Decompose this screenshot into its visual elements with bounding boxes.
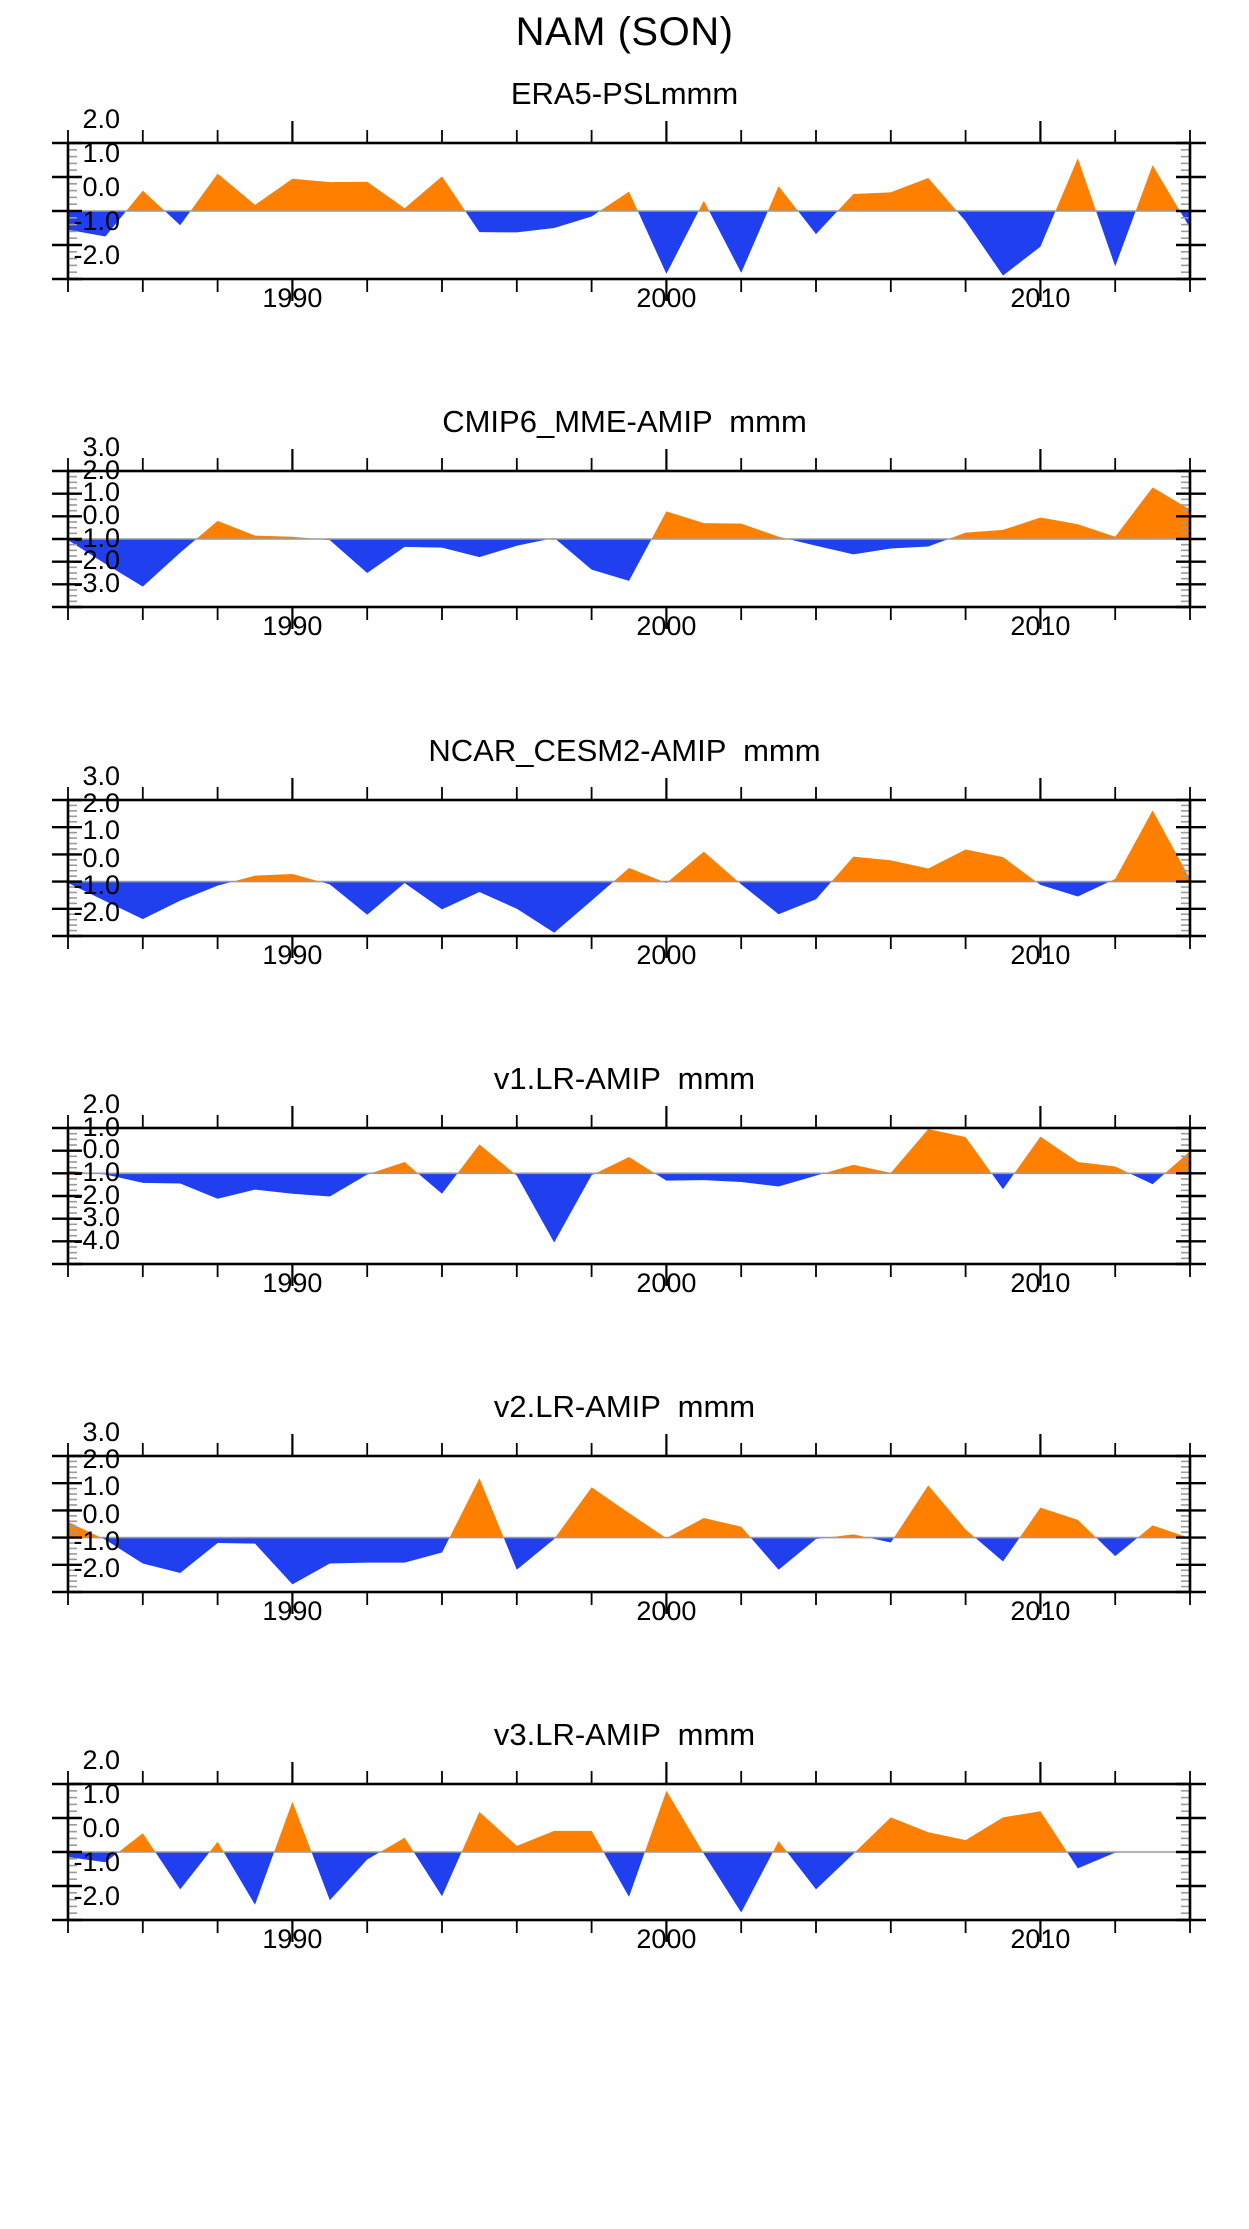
plot-area: 2.01.00.0-1.0-2.0-3.0-4.0199020002010 xyxy=(0,1104,1249,1300)
x-tick-label: 2000 xyxy=(636,285,696,312)
panel-title: v3.LR-AMIP mmm xyxy=(0,1717,1249,1753)
panel-title: ERA5-PSLmmm xyxy=(0,76,1249,112)
y-tick-label: -4.0 xyxy=(64,1227,120,1254)
y-tick-label: 2.0 xyxy=(64,106,120,133)
y-tick-label: -2.0 xyxy=(64,242,120,269)
y-tick-label: -3.0 xyxy=(64,570,120,597)
plot-area: 3.02.01.00.0-1.0-2.0199020002010 xyxy=(0,776,1249,972)
y-tick-label: -1.0 xyxy=(64,872,120,899)
y-tick-label: -2.0 xyxy=(64,899,120,926)
panel-title: v2.LR-AMIP mmm xyxy=(0,1389,1249,1425)
x-tick-label: 1990 xyxy=(262,1598,322,1625)
plot-area: 2.01.00.0-1.0-2.0199020002010 xyxy=(0,1760,1249,1956)
y-tick-label: 0.0 xyxy=(64,845,120,872)
y-tick-label: 2.0 xyxy=(64,790,120,817)
y-tick-label: 3.0 xyxy=(64,1419,120,1446)
y-tick-label: -2.0 xyxy=(64,1883,120,1910)
x-tick-label: 2000 xyxy=(636,1926,696,1953)
y-tick-label: -1.0 xyxy=(64,1528,120,1555)
plot-area: 3.02.01.00.0-1.0-2.0199020002010 xyxy=(0,1432,1249,1628)
x-tick-label: 1990 xyxy=(262,285,322,312)
y-tick-label: -1.0 xyxy=(64,208,120,235)
y-tick-label: 3.0 xyxy=(64,763,120,790)
x-tick-label: 2010 xyxy=(1010,1270,1070,1297)
x-tick-label: 2000 xyxy=(636,942,696,969)
plot-area: 3.02.01.00.0-1.0-2.0-3.0199020002010 xyxy=(0,447,1249,643)
y-tick-label: 2.0 xyxy=(64,1747,120,1774)
y-tick-label: 1.0 xyxy=(64,1473,120,1500)
x-tick-label: 2010 xyxy=(1010,613,1070,640)
plot-area: 2.01.00.0-1.0-2.0199020002010 xyxy=(0,119,1249,315)
panel-title: NCAR_CESM2-AMIP mmm xyxy=(0,733,1249,769)
x-tick-label: 2010 xyxy=(1010,942,1070,969)
x-tick-label: 2010 xyxy=(1010,1926,1070,1953)
y-tick-label: -2.0 xyxy=(64,1555,120,1582)
x-tick-label: 1990 xyxy=(262,1270,322,1297)
y-tick-label: -1.0 xyxy=(64,1849,120,1876)
y-tick-label: 1.0 xyxy=(64,817,120,844)
y-tick-label: 0.0 xyxy=(64,1501,120,1528)
figure-root: NAM (SON) ERA5-PSLmmm 2.01.00.0-1.0-2.01… xyxy=(0,0,1249,2229)
y-tick-label: 0.0 xyxy=(64,1815,120,1842)
x-tick-label: 2010 xyxy=(1010,1598,1070,1625)
x-tick-label: 2000 xyxy=(636,1270,696,1297)
y-tick-label: 0.0 xyxy=(64,174,120,201)
panel-title: CMIP6_MME-AMIP mmm xyxy=(0,404,1249,440)
y-tick-label: 1.0 xyxy=(64,140,120,167)
figure-title: NAM (SON) xyxy=(0,10,1249,55)
y-tick-label: 1.0 xyxy=(64,1781,120,1808)
x-tick-label: 2000 xyxy=(636,613,696,640)
x-tick-label: 2010 xyxy=(1010,285,1070,312)
x-tick-label: 1990 xyxy=(262,1926,322,1953)
y-tick-label: 2.0 xyxy=(64,1446,120,1473)
x-tick-label: 2000 xyxy=(636,1598,696,1625)
x-tick-label: 1990 xyxy=(262,942,322,969)
x-tick-label: 1990 xyxy=(262,613,322,640)
panel-title: v1.LR-AMIP mmm xyxy=(0,1061,1249,1097)
